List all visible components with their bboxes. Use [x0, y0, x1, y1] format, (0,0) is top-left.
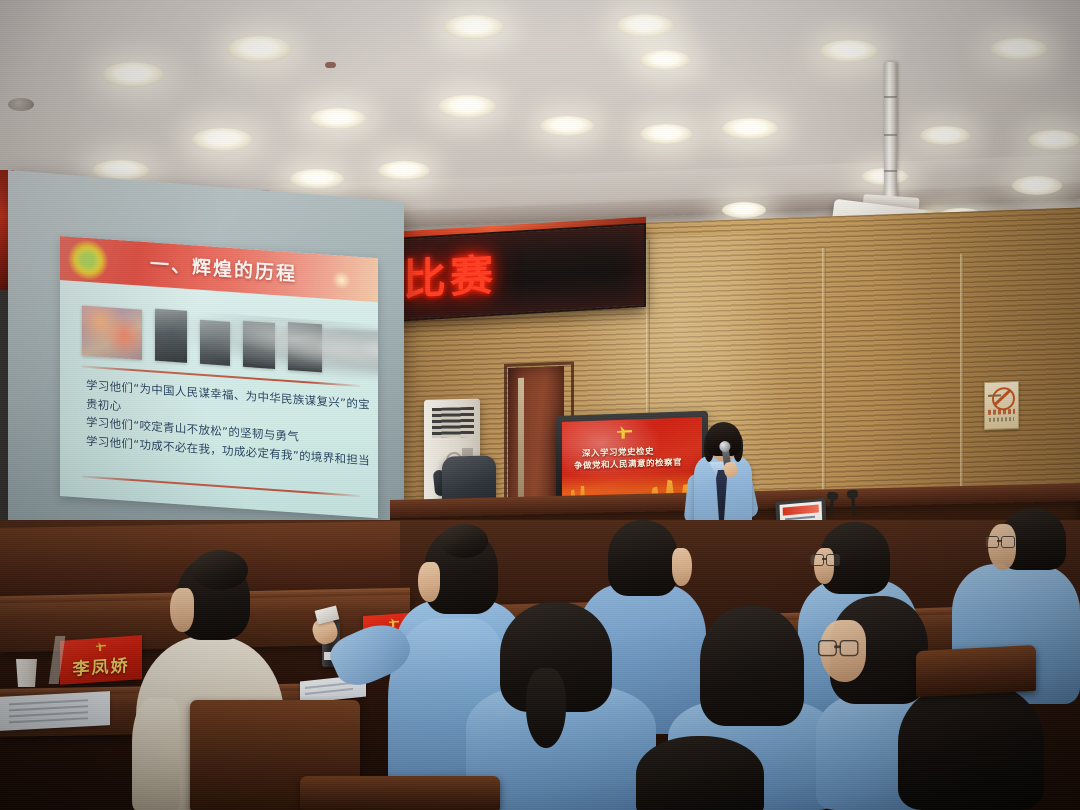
audience-hair-bun	[440, 524, 488, 558]
presentation-slide: 一、辉煌的历程 学习他们“为中国人民谋幸福、为中华民族谋复兴”的宝 贵初心 学习…	[60, 236, 378, 518]
audience-hair	[636, 736, 764, 810]
ceiling-downlight	[722, 118, 778, 139]
ceiling-downlight	[227, 36, 291, 62]
ceiling-downlight	[616, 14, 674, 37]
ceiling-downlight	[640, 124, 692, 144]
no-smoking-icon	[992, 387, 1015, 411]
paper-cup	[14, 659, 39, 687]
header-glow-dot-icon	[333, 271, 350, 289]
no-smoking-sublabel	[989, 417, 1014, 422]
ceiling-downlight	[820, 40, 878, 62]
ceiling-downlight	[722, 202, 766, 218]
slide-photo-portrait	[288, 322, 322, 372]
ceiling-downlight	[102, 62, 164, 87]
audience-face	[418, 562, 440, 602]
projector-mount-pole	[884, 62, 897, 212]
ceiling-downlight	[1028, 130, 1080, 150]
name-placard: 李凤娇	[60, 635, 142, 685]
slide-photo-portrait	[155, 309, 187, 363]
smoke-detector-icon	[8, 98, 34, 111]
chair-back	[300, 776, 500, 810]
audience-arm	[132, 698, 180, 810]
air-conditioner-panel	[462, 448, 473, 456]
tv-screen: 深入学习党史检史 争做党和人民满意的检察官	[562, 417, 702, 504]
air-conditioner-vent	[432, 407, 474, 438]
slide-photo-portrait	[243, 321, 275, 369]
slide-body-text: 学习他们“为中国人民谋幸福、为中华民族谋复兴”的宝 贵初心 学习他们“咬定青山不…	[86, 376, 366, 470]
audience-face	[170, 588, 194, 632]
ceiling-downlight	[540, 116, 594, 136]
audience-face	[672, 548, 692, 586]
audience-hair-bun	[192, 550, 248, 590]
ceiling-downlight	[378, 161, 430, 180]
party-emblem-icon	[96, 642, 106, 652]
slide-photo-portrait	[200, 320, 230, 366]
conference-room-photo: 比赛 一、辉煌的历程 学习他们“为中国人民谋幸福、为中华民族谋复兴”的宝 贵初心…	[0, 0, 1080, 810]
ceiling-downlight	[640, 50, 690, 70]
chair-back	[916, 645, 1036, 697]
audience-ponytail	[526, 668, 566, 748]
ceiling-downlight	[438, 95, 496, 118]
audience-hair	[608, 520, 678, 596]
tv-banner-line2: 争做党和人民满意的检察官	[574, 456, 682, 472]
audience-hair	[700, 606, 804, 726]
ceiling-downlight	[192, 128, 252, 151]
starburst-icon	[68, 239, 108, 282]
sprinkler-head-icon	[325, 62, 336, 68]
ceiling-downlight	[920, 126, 970, 145]
ceiling-downlight	[444, 15, 504, 39]
name-placard-text: 李凤娇	[60, 650, 142, 681]
led-sign-text: 比赛	[403, 240, 497, 308]
slide-photo-row	[82, 300, 360, 375]
audience-hair	[898, 680, 1044, 810]
slide-photo-painting	[82, 306, 142, 360]
ceiling-downlight	[1012, 176, 1062, 195]
slide-divider-bottom	[82, 476, 360, 497]
party-emblem-icon	[617, 426, 632, 440]
no-smoking-sign	[984, 381, 1019, 430]
no-smoking-label	[988, 409, 1015, 415]
document-sheets	[0, 691, 110, 731]
ceiling-downlight	[290, 169, 344, 189]
ceiling-downlight	[990, 38, 1048, 60]
ceiling-downlight	[310, 108, 366, 129]
